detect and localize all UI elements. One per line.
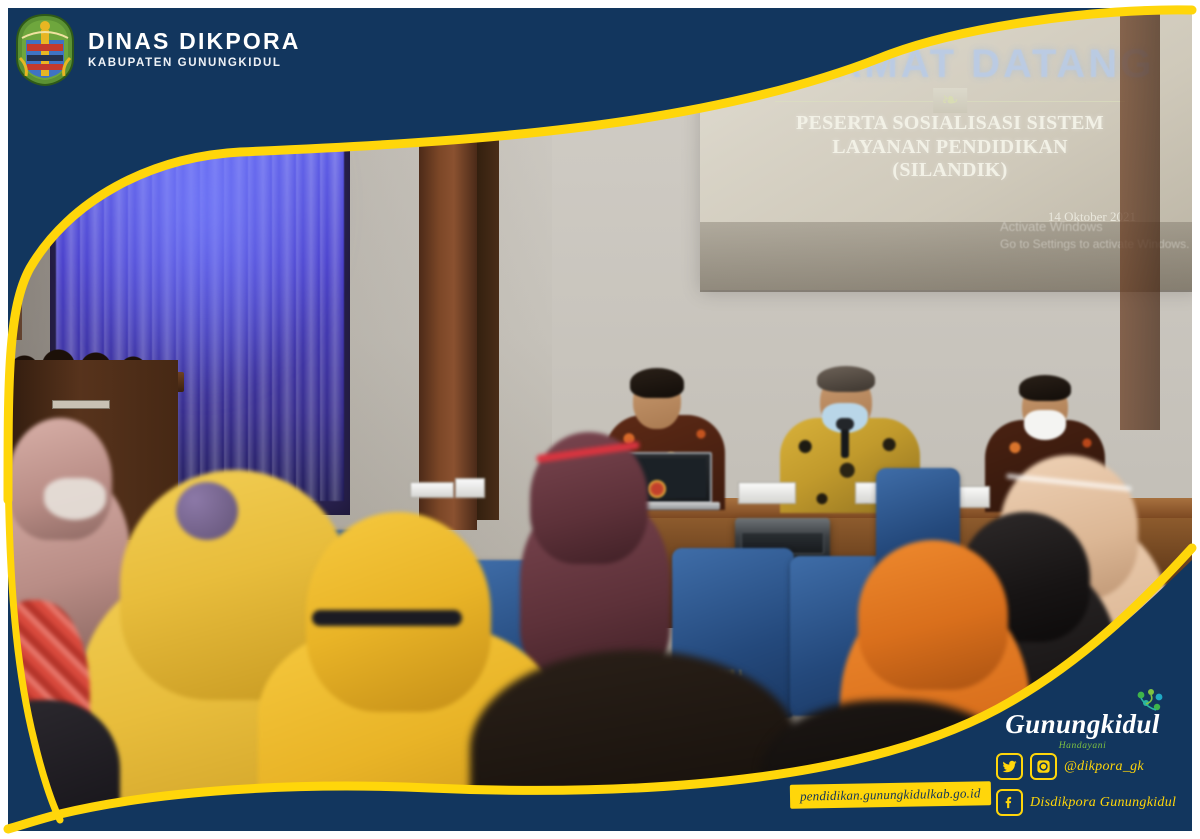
brand-header: DINAS DIKPORA KABUPATEN GUNUNGKIDUL bbox=[14, 14, 301, 86]
windows-activation-watermark: Activate Windows Go to Settings to activ… bbox=[1000, 218, 1189, 252]
attendee-foreground-hair bbox=[470, 650, 800, 839]
speaker-right-mask bbox=[1024, 410, 1066, 440]
gunungkidul-tagline: Handayani bbox=[995, 741, 1170, 751]
speaker-right-hair bbox=[1019, 375, 1071, 401]
instagram-icon[interactable] bbox=[1030, 753, 1057, 780]
attendee-foreground-right-hair bbox=[760, 700, 1020, 839]
slide-ornament-icon: ❧ bbox=[933, 88, 967, 113]
social-handle-instagram[interactable]: @dikpora_gk bbox=[1064, 759, 1144, 775]
poster-canvas: SELAMAT DATANG ❧ PESERTA SOSIALISASI SIS… bbox=[0, 0, 1200, 839]
wood-pillar-center bbox=[419, 0, 477, 530]
side-table-device bbox=[455, 478, 485, 498]
org-name: DINAS DIKPORA bbox=[88, 30, 301, 53]
social-row-facebook: Disdikpora Gunungkidul bbox=[996, 789, 1186, 816]
org-subtitle: KABUPATEN GUNUNGKIDUL bbox=[88, 58, 301, 70]
website-url[interactable]: pendidikan.gunungkidulkab.go.id bbox=[790, 781, 991, 808]
facebook-icon[interactable] bbox=[996, 789, 1023, 816]
slide-divider: ❧ bbox=[775, 101, 1125, 102]
curtain-rod-knob-right bbox=[362, 83, 376, 97]
attendee-yellow-left-brooch-icon bbox=[176, 482, 238, 540]
curtain-rod bbox=[40, 86, 370, 95]
podium-plaque bbox=[52, 400, 110, 409]
wood-pillar-center-edge bbox=[477, 0, 499, 520]
brand-text: DINAS DIKPORA KABUPATEN GUNUNGKIDUL bbox=[88, 30, 301, 70]
attendee-pink-mask bbox=[44, 478, 106, 520]
gunungkidul-regency-crest-icon bbox=[14, 14, 76, 86]
speaker-center-hair bbox=[817, 366, 875, 392]
wood-pillar-right bbox=[1120, 0, 1160, 430]
nameplate-center-left bbox=[738, 482, 796, 504]
watermark-body: Go to Settings to activate Windows. bbox=[1000, 236, 1189, 252]
social-links: @dikpora_gk Disdikpora Gunungkidul bbox=[996, 753, 1186, 825]
social-row-twitter-instagram: @dikpora_gk bbox=[996, 753, 1186, 780]
twitter-icon[interactable] bbox=[996, 753, 1023, 780]
slide-subject-line-2: LAYANAN PENDIDIKAN bbox=[832, 136, 1068, 158]
gunungkidul-ornament-icon bbox=[1132, 687, 1166, 717]
attendee-orange-head bbox=[858, 540, 1008, 690]
watermark-title: Activate Windows bbox=[1000, 218, 1189, 236]
attendee-yellow-right-strap bbox=[312, 610, 462, 626]
laptop-screen-emblem-icon bbox=[648, 480, 666, 498]
side-table-item bbox=[410, 482, 454, 498]
slide-subject-line-3: (SILANDIK) bbox=[892, 159, 1007, 181]
microphone-head bbox=[836, 418, 854, 430]
slide-subject-line-1: PESERTA SOSIALISASI SISTEM bbox=[796, 112, 1104, 134]
speaker-left-hair bbox=[630, 368, 684, 398]
social-handle-facebook[interactable]: Disdikpora Gunungkidul bbox=[1030, 795, 1176, 811]
gunungkidul-logo: Gunungkidul Handayani bbox=[995, 711, 1170, 751]
